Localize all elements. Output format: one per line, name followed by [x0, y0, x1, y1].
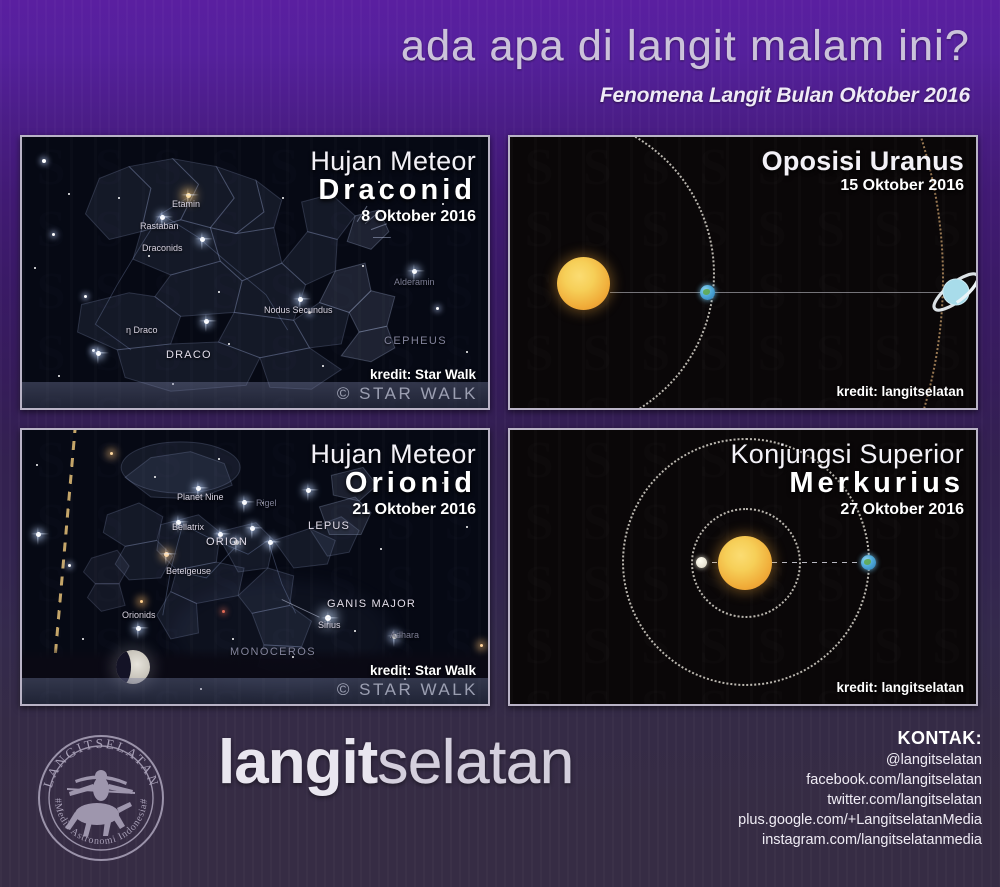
star — [228, 343, 230, 345]
panel-date: 21 Oktober 2016 — [310, 501, 476, 519]
panel-name: Merkurius — [730, 468, 964, 499]
star — [362, 265, 364, 267]
label-lepus: LEPUS — [308, 520, 350, 532]
star — [110, 452, 113, 455]
label-alderamin: Alderamin — [394, 277, 435, 287]
star — [322, 365, 324, 367]
panel-draconid[interactable]: SSSSSSSS SSSSSSSS SSSSSSSS SSSSSSSS SSSS… — [20, 135, 490, 410]
panel-title-orionid: Hujan Meteor Orionid 21 Oktober 2016 — [310, 440, 476, 519]
wordmark-bold: langit — [218, 728, 377, 797]
panel-name: Draconid — [310, 175, 476, 206]
star — [34, 267, 36, 269]
label-rastaban: Rastaban — [140, 221, 179, 231]
starwalk-watermark-text: © STAR WALK — [337, 680, 478, 700]
star — [84, 295, 87, 298]
panel-credit: kredit: Star Walk — [370, 663, 476, 678]
star — [466, 526, 468, 528]
star — [68, 564, 71, 567]
star — [52, 233, 55, 236]
sun — [718, 536, 772, 590]
panel-orionid[interactable]: SSSSSSSS SSSSSSSS SSSSSSSS SSSSSSSS SSSS… — [20, 428, 490, 706]
contact-googleplus[interactable]: plus.google.com/+LangitselatanMedia — [738, 810, 982, 830]
star — [36, 464, 38, 466]
panel-credit: kredit: langitselatan — [836, 384, 964, 399]
panel-date: 27 Oktober 2016 — [730, 501, 964, 519]
alignment-line — [610, 292, 960, 293]
panel-kicker: Oposisi Uranus — [762, 147, 964, 175]
label-nodus-secundus: Nodus Secundus — [264, 305, 333, 315]
earth — [700, 285, 715, 300]
star — [58, 375, 60, 377]
panel-konjungsi-merkurius[interactable]: SSSSSSSS SSSSSSSS SSSSSSSS SSSSSSSS SSSS… — [508, 428, 978, 706]
panel-kicker: Konjungsi Superior — [730, 440, 964, 468]
star — [118, 197, 120, 199]
star — [380, 548, 382, 550]
panel-title-draconid: Hujan Meteor Draconid 8 Oktober 2016 — [310, 147, 476, 226]
star — [68, 193, 70, 195]
label-rigel: Rigel — [256, 498, 277, 508]
contact-facebook[interactable]: facebook.com/langitselatan — [738, 770, 982, 790]
starwalk-watermark-bar: © STAR WALK — [22, 382, 488, 408]
label-cepheus: CEPHEUS — [384, 335, 447, 347]
star — [140, 600, 143, 603]
earth — [861, 555, 876, 570]
panel-date: 15 Oktober 2016 — [762, 177, 964, 195]
panel-oposisi-uranus[interactable]: SSSSSSSS SSSSSSSS SSSSSSSS SSSSSSSS SSSS… — [508, 135, 978, 410]
langitselatan-wordmark: langitselatan — [218, 732, 574, 794]
poster-footer: LANGITSELATAN #Media Astronomi Indonesia… — [0, 710, 1000, 887]
contact-twitter[interactable]: twitter.com/langitselatan — [738, 790, 982, 810]
star — [42, 159, 46, 163]
contact-block: KONTAK: @langitselatan facebook.com/lang… — [738, 728, 982, 850]
langitselatan-logo-seal: LANGITSELATAN #Media Astronomi Indonesia… — [35, 732, 167, 864]
poster-header: ada apa di langit malam ini? Fenomena La… — [0, 0, 1000, 122]
starwalk-watermark-bar: © STAR WALK — [22, 678, 488, 704]
label-monoceros: MONOCEROS — [230, 646, 316, 658]
panel-title-uranus: Oposisi Uranus 15 Oktober 2016 — [762, 147, 964, 195]
uranus — [925, 261, 978, 323]
label-orion: ORION — [206, 536, 248, 548]
starwalk-watermark-text: © STAR WALK — [337, 384, 478, 404]
label-bellatrix: Bellatrix — [172, 522, 204, 532]
contact-heading: KONTAK: — [738, 728, 982, 749]
label-adhara: Adhara — [390, 630, 419, 640]
star — [232, 638, 234, 640]
panel-credit: kredit: Star Walk — [370, 367, 476, 382]
panel-name: Orionid — [310, 468, 476, 499]
page-title: ada apa di langit malam ini? — [401, 22, 970, 71]
contact-handle[interactable]: @langitselatan — [738, 750, 982, 770]
poster-root: ada apa di langit malam ini? Fenomena La… — [0, 0, 1000, 887]
sun — [557, 257, 610, 310]
star — [218, 291, 220, 293]
label-draco: DRACO — [166, 349, 212, 361]
wordmark-thin: selatan — [377, 728, 573, 797]
label-orionids: Orionids — [122, 610, 156, 620]
star — [354, 630, 356, 632]
panel-kicker: Hujan Meteor — [310, 147, 476, 175]
label-betelgeuse: Betelgeuse — [166, 566, 211, 576]
label-eta-draco: η Draco — [126, 325, 158, 335]
panel-date: 8 Oktober 2016 — [310, 208, 476, 226]
contact-instagram[interactable]: instagram.com/langitselatanmedia — [738, 830, 982, 850]
star — [436, 307, 439, 310]
star — [480, 644, 483, 647]
star — [148, 255, 150, 257]
label-sirius: Sirius — [318, 620, 341, 630]
label-planet-nine: Planet Nine — [177, 492, 224, 502]
panel-kicker: Hujan Meteor — [310, 440, 476, 468]
page-subtitle: Fenomena Langit Bulan Oktober 2016 — [600, 84, 970, 108]
label-ganis-major: GANIS MAJOR — [327, 598, 416, 610]
mercury — [696, 557, 707, 568]
label-etamin: Etamin — [172, 199, 200, 209]
label-draconids: Draconids — [142, 243, 183, 253]
star — [82, 638, 84, 640]
panel-credit: kredit: langitselatan — [836, 680, 964, 695]
star — [222, 610, 225, 613]
star — [466, 351, 468, 353]
panel-title-merkurius: Konjungsi Superior Merkurius 27 Oktober … — [730, 440, 964, 519]
star — [282, 197, 284, 199]
star — [154, 476, 156, 478]
star — [218, 458, 220, 460]
